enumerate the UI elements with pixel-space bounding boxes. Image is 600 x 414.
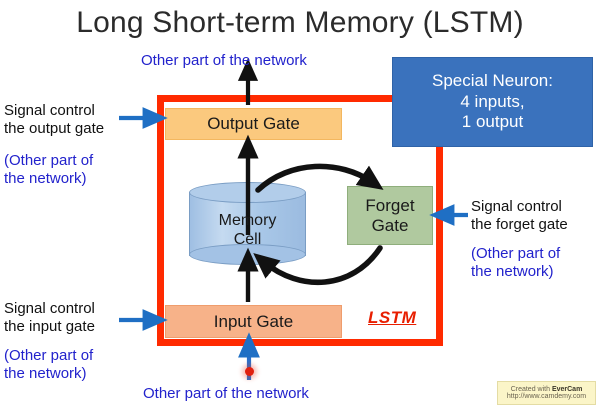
annotation-input-control: Signal control the input gate	[4, 300, 95, 337]
annotation-top-network: Other part of the network	[141, 52, 307, 69]
annotation-output-control-line2: the output gate	[4, 120, 104, 138]
memory-cell-label: Memory Cell	[189, 204, 306, 256]
special-neuron-line1: Special Neuron:	[432, 71, 553, 92]
page-title: Long Short-term Memory (LSTM)	[0, 6, 600, 40]
memory-cell-label-line2: Cell	[234, 230, 262, 249]
annotation-forget-network-line1: (Other part of	[471, 245, 560, 263]
annotation-input-network-line2: the network)	[4, 365, 93, 383]
watermark-line1: Created with EverCam	[511, 386, 583, 393]
annotation-output-network-line2: the network)	[4, 170, 93, 188]
annotation-input-control-line2: the input gate	[4, 318, 95, 336]
special-neuron-callout: Special Neuron: 4 inputs, 1 output	[392, 57, 593, 147]
forget-gate-label-line1: Forget	[365, 196, 414, 216]
watermark-created-with: Created with	[511, 386, 552, 393]
annotation-forget-network: (Other part of the network)	[471, 245, 560, 282]
annotation-output-network: (Other part of the network)	[4, 152, 93, 189]
cursor-highlight-dot	[245, 367, 254, 376]
forget-gate-box[interactable]: Forget Gate	[347, 186, 433, 245]
output-gate-box[interactable]: Output Gate	[165, 108, 342, 140]
watermark-line2: http://www.camdemy.com	[507, 393, 586, 400]
cylinder-top-ellipse-icon	[189, 182, 306, 203]
annotation-input-network-line1: (Other part of	[4, 347, 93, 365]
annotation-input-network: (Other part of the network)	[4, 347, 93, 384]
forget-gate-label-line2: Gate	[372, 216, 409, 236]
memory-cell-cylinder[interactable]: Memory Cell	[189, 182, 306, 265]
watermark-brand: EverCam	[552, 386, 582, 393]
special-neuron-line3: 1 output	[462, 112, 523, 133]
annotation-output-network-line1: (Other part of	[4, 152, 93, 170]
memory-cell-label-line1: Memory	[219, 211, 277, 230]
annotation-output-control-line1: Signal control	[4, 102, 104, 120]
annotation-input-control-line1: Signal control	[4, 300, 95, 318]
annotation-forget-network-line2: the network)	[471, 263, 560, 281]
evercam-watermark: Created with EverCam http://www.camdemy.…	[497, 381, 596, 405]
special-neuron-line2: 4 inputs,	[460, 92, 524, 113]
lstm-caption-label: LSTM	[368, 308, 416, 328]
input-gate-box[interactable]: Input Gate	[165, 305, 342, 338]
annotation-bottom-network: Other part of the network	[143, 385, 309, 402]
annotation-forget-control-line2: the forget gate	[471, 216, 568, 234]
annotation-forget-control: Signal control the forget gate	[471, 198, 568, 235]
annotation-output-control: Signal control the output gate	[4, 102, 104, 139]
annotation-forget-control-line1: Signal control	[471, 198, 568, 216]
